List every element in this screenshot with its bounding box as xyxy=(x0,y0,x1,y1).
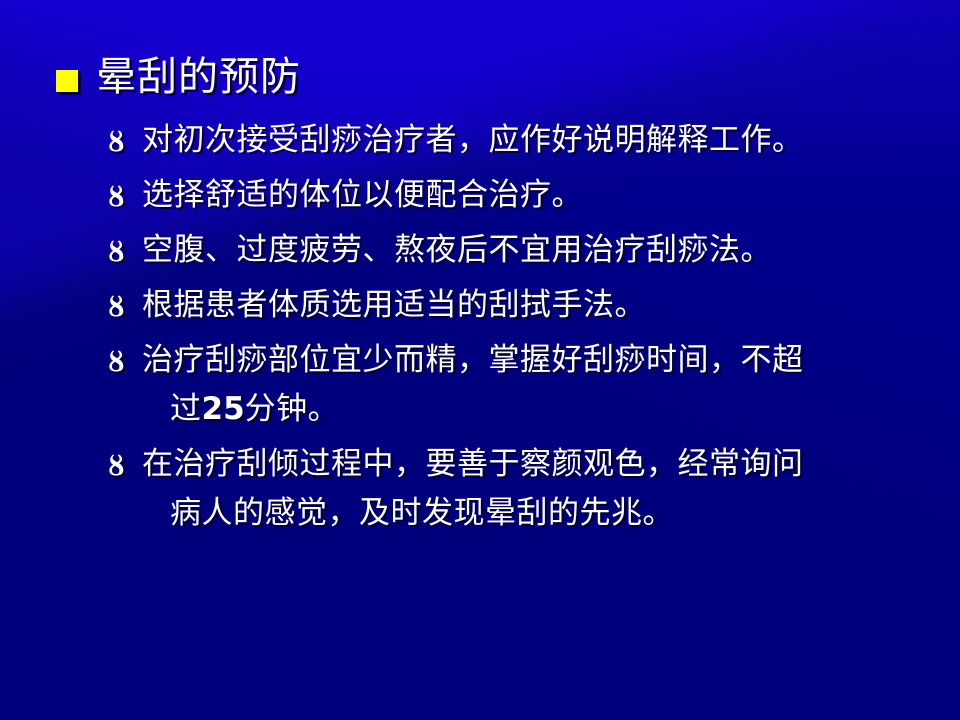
list-item-text: 空腹、过度疲劳、熬夜后不宜用治疗刮痧法。 xyxy=(142,226,940,275)
list-item: ȣ 空腹、过度疲劳、熬夜后不宜用治疗刮痧法。 xyxy=(108,226,940,275)
cb-ligature-bullet-icon: ȣ xyxy=(108,228,142,277)
list-item-text: 对初次接受刮痧治疗者，应作好说明解释工作。 xyxy=(142,116,940,165)
list-item-line-2: 过25分钟。 xyxy=(142,385,940,434)
bullet-list: ȣ 对初次接受刮痧治疗者，应作好说明解释工作。 ȣ 选择舒适的体位以便配合治疗。… xyxy=(108,116,940,544)
list-item-text: 治疗刮痧部位宜少而精，掌握好刮痧时间，不超 过25分钟。 xyxy=(142,336,940,434)
wrap-prefix: 过 xyxy=(170,391,202,427)
list-item-line-1: 治疗刮痧部位宜少而精，掌握好刮痧时间，不超 xyxy=(142,342,804,378)
yellow-square-bullet-icon xyxy=(56,70,78,92)
list-item: ȣ 在治疗刮倾过程中，要善于察颜观色，经常询问 病人的感觉，及时发现晕刮的先兆。 xyxy=(108,440,940,538)
slide-title-row: 晕刮的预防 xyxy=(56,52,301,102)
wrap-suffix: 分钟。 xyxy=(245,391,340,427)
list-item: ȣ 对初次接受刮痧治疗者，应作好说明解释工作。 xyxy=(108,116,940,165)
cb-ligature-bullet-icon: ȣ xyxy=(108,338,142,387)
list-item-text: 根据患者体质选用适当的刮拭手法。 xyxy=(142,281,940,330)
list-item: ȣ 选择舒适的体位以便配合治疗。 xyxy=(108,171,940,220)
cb-ligature-bullet-icon: ȣ xyxy=(108,442,142,491)
list-item-text: 在治疗刮倾过程中，要善于察颜观色，经常询问 病人的感觉，及时发现晕刮的先兆。 xyxy=(142,440,940,538)
cb-ligature-bullet-icon: ȣ xyxy=(108,283,142,332)
cb-ligature-bullet-icon: ȣ xyxy=(108,118,142,167)
list-item-line-2: 病人的感觉，及时发现晕刮的先兆。 xyxy=(142,489,940,538)
list-item-line-1: 在治疗刮倾过程中，要善于察颜观色，经常询问 xyxy=(142,446,804,482)
cb-ligature-bullet-icon: ȣ xyxy=(108,173,142,222)
presentation-slide: 晕刮的预防 ȣ 对初次接受刮痧治疗者，应作好说明解释工作。 ȣ 选择舒适的体位以… xyxy=(0,0,960,720)
list-item: ȣ 治疗刮痧部位宜少而精，掌握好刮痧时间，不超 过25分钟。 xyxy=(108,336,940,434)
list-item-text: 选择舒适的体位以便配合治疗。 xyxy=(142,171,940,220)
list-item: ȣ 根据患者体质选用适当的刮拭手法。 xyxy=(108,281,940,330)
slide-title: 晕刮的预防 xyxy=(96,52,301,102)
duration-minutes-value: 25 xyxy=(202,391,245,427)
